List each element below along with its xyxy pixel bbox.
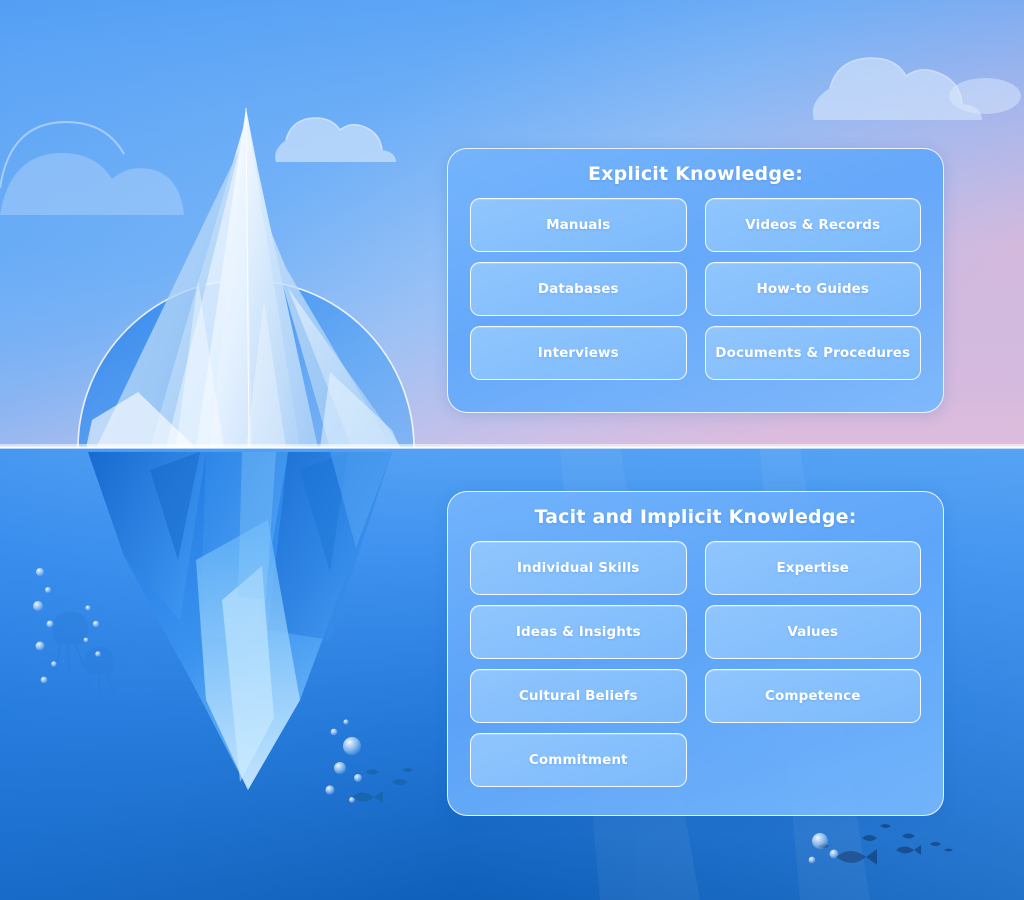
chip-databases[interactable]: Databases (470, 262, 687, 316)
chip-commitment[interactable]: Commitment (470, 733, 687, 787)
chip-ideas-insights[interactable]: Ideas & Insights (470, 605, 687, 659)
chip-competence[interactable]: Competence (705, 669, 922, 723)
chip-manuals[interactable]: Manuals (470, 198, 687, 252)
cloud-group (949, 78, 1021, 114)
chip-interviews[interactable]: Interviews (470, 326, 687, 380)
panel-tacit-implicit-knowledge: Tacit and Implicit Knowledge: Individual… (447, 491, 944, 816)
chip-grid-explicit: Manuals Videos & Records Databases How-t… (470, 198, 921, 380)
chip-values[interactable]: Values (705, 605, 922, 659)
chip-placeholder (705, 733, 922, 787)
waterline (0, 444, 1024, 449)
chip-cultural-beliefs[interactable]: Cultural Beliefs (470, 669, 687, 723)
chip-grid-tacit: Individual Skills Expertise Ideas & Insi… (470, 541, 921, 787)
panel-title-tacit: Tacit and Implicit Knowledge: (470, 506, 921, 529)
panel-explicit-knowledge: Explicit Knowledge: Manuals Videos & Rec… (447, 148, 944, 413)
chip-expertise[interactable]: Expertise (705, 541, 922, 595)
panel-title-explicit: Explicit Knowledge: (470, 163, 921, 186)
iceberg-knowledge-diagram: Explicit Knowledge: Manuals Videos & Rec… (0, 0, 1024, 900)
chip-how-to-guides[interactable]: How-to Guides (705, 262, 922, 316)
chip-documents-procedures[interactable]: Documents & Procedures (705, 326, 922, 380)
chip-videos-records[interactable]: Videos & Records (705, 198, 922, 252)
chip-individual-skills[interactable]: Individual Skills (470, 541, 687, 595)
